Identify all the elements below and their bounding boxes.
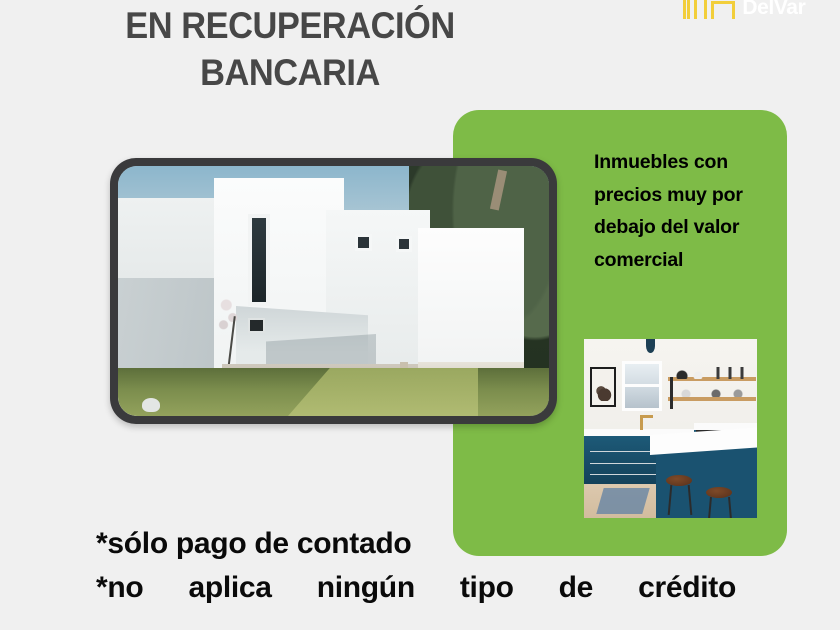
logo-text-block: Asesor Inmobiliario DelVar: [742, 0, 820, 19]
square-window: [396, 236, 412, 252]
terms-word: aplica: [188, 566, 271, 610]
pendant-light-icon: [646, 339, 655, 353]
square-window: [355, 234, 372, 251]
bar-stool: [666, 475, 692, 486]
kitchen-window: [622, 361, 662, 411]
terms-word: crédito: [638, 566, 736, 610]
headline-line-2: BANCARIA: [20, 49, 559, 96]
faucet-icon: [640, 415, 643, 430]
kitchen-rug: [596, 488, 649, 514]
house-photo: [118, 166, 549, 416]
wall-art-frame: [590, 367, 616, 407]
terms-line-2: *no aplica ningún tipo de crédito: [96, 566, 736, 610]
brand-logo: Asesor Inmobiliario DelVar: [683, 0, 820, 19]
terms-word: tipo: [460, 566, 514, 610]
bar-stool: [706, 487, 732, 498]
terms-word: de: [559, 566, 593, 610]
terms-line-1: *sólo pago de contado: [96, 522, 796, 566]
terms-word: *no: [96, 566, 143, 610]
kitchen-photo: [584, 339, 757, 518]
logo-brand-name: DelVar: [742, 0, 820, 18]
panel-headline-text: Inmuebles con precios muy por debajo del…: [594, 146, 769, 276]
headline-line-1: EN RECUPERACIÓN: [20, 2, 559, 49]
terms-text: *sólo pago de contado *no aplica ningún …: [96, 522, 796, 610]
device-frame: [110, 158, 557, 424]
page-title: EN RECUPERACIÓN BANCARIA: [20, 2, 559, 96]
tall-window: [248, 214, 270, 306]
buildings-icon: [683, 0, 735, 19]
terms-word: ningún: [317, 566, 415, 610]
